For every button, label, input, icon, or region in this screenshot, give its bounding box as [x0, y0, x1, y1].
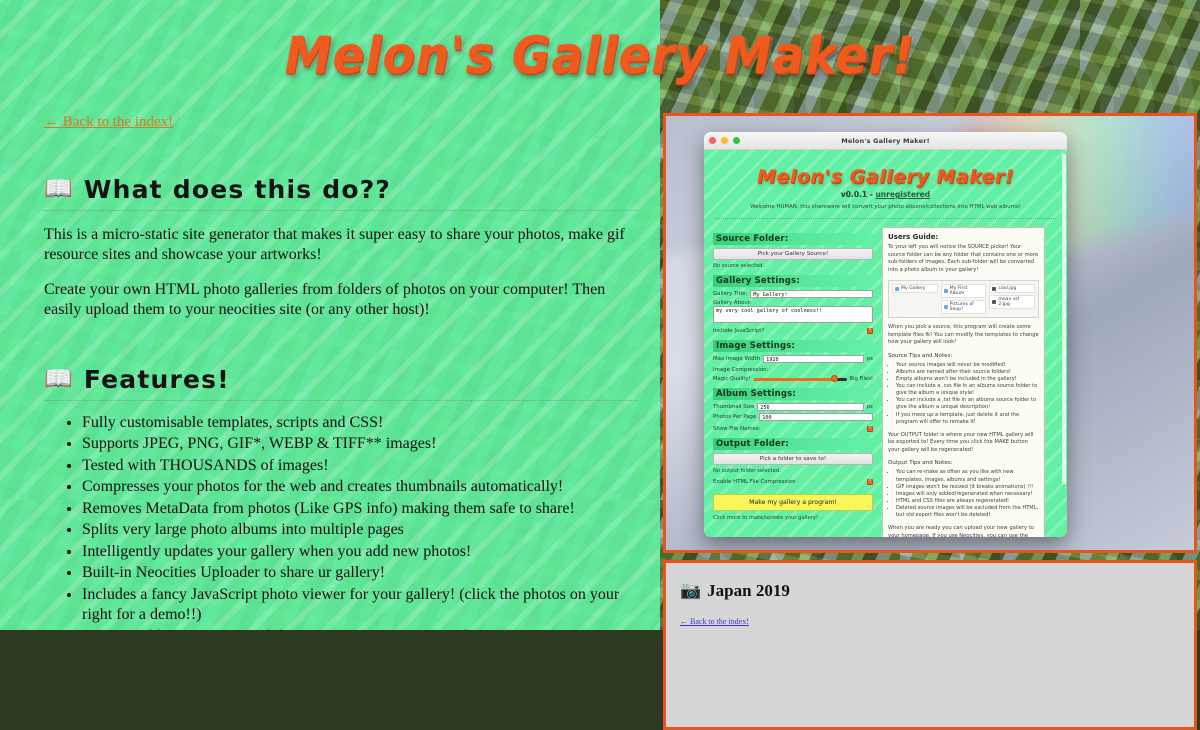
max-image-width-unit: px [867, 356, 873, 362]
back-to-index-link[interactable]: ← Back to the index! [44, 114, 173, 130]
feature-list-item: Removes MetaData from photos (Like GPS i… [82, 499, 638, 519]
thumbnail-size-input[interactable]: 256 [757, 403, 863, 411]
app-version-status[interactable]: unregistered [875, 190, 930, 199]
gallery-title-input[interactable]: My Gallery! [750, 290, 873, 298]
output-folder-heading: Output Folder: [713, 438, 873, 450]
file-mock-item: My Gallery [892, 284, 938, 293]
guide-list-item: You can re-make as often as you like wit… [896, 469, 1039, 483]
html-compression-label: Enable HTML File Compression [713, 479, 796, 485]
output-tips-heading: Output Tips and Notes: [888, 460, 1039, 466]
slider-min-label: Magic Quality! [713, 376, 751, 382]
slider-fill [754, 378, 834, 381]
app-scrollbar[interactable] [1062, 154, 1066, 484]
html-compression-checkbox[interactable] [867, 479, 873, 485]
include-javascript-checkbox[interactable] [867, 328, 873, 334]
camera-icon: 📷 [680, 581, 701, 601]
guide-list-item: Deleted source images will be excluded f… [896, 505, 1039, 519]
feature-list-item: Fully customisable templates, scripts an… [82, 413, 638, 433]
image-file-icon [992, 300, 996, 304]
users-guide-panel: Users Guide: To your left you will notic… [882, 227, 1045, 537]
users-guide-p4: When you are ready you can upload your n… [888, 525, 1039, 537]
album-demo-panel[interactable]: 📷 Japan 2019 ← Back to the index! [663, 560, 1197, 730]
section-heading-label: What does this do?? [84, 175, 391, 204]
slider-handle[interactable] [831, 375, 838, 382]
make-gallery-button[interactable]: Make my gallery a program! [713, 494, 873, 511]
source-status: No source selected. [713, 263, 873, 269]
feature-list-item: Built-in Neocities Uploader to share ur … [82, 563, 638, 583]
guide-list-item: You can include a .txt file in an albums… [896, 397, 1039, 411]
file-browser-mockup: My Gallery My First Album Pictures of So… [888, 280, 1039, 318]
intro-paragraph-2: Create your own HTML photo galleries fro… [44, 280, 638, 321]
guide-list-item: Empty albums won't be included in the ga… [896, 376, 1039, 383]
feature-list-item: Compresses your photos for the web and c… [82, 477, 638, 497]
guide-list-item: Albums are named after their source fold… [896, 369, 1039, 376]
folder-icon [944, 289, 948, 293]
file-mock-label: My First Album [950, 286, 984, 296]
pick-output-button[interactable]: Pick a folder to save to! [713, 453, 873, 465]
file-mock-item: My First Album [941, 284, 987, 298]
guide-list-item: Your source images will never be modifie… [896, 362, 1039, 369]
users-guide-p3: Your OUTPUT folder is where your new HTM… [888, 432, 1039, 455]
photos-per-page-input[interactable]: 100 [759, 413, 873, 421]
feature-list-item: Intelligently updates your gallery when … [82, 542, 638, 562]
section-heading-features: 📖 Features! [44, 365, 638, 401]
settings-column: Source Folder: Pick your Gallery Source!… [713, 227, 873, 537]
intro-paragraph-1: This is a micro-static site generator th… [44, 225, 638, 266]
feature-list-item: Includes a fancy JavaScript photo viewer… [82, 585, 638, 626]
photos-per-page-label: Photos Per Page [713, 414, 756, 420]
album-back-to-index-link[interactable]: ← Back to the index! [680, 617, 749, 626]
album-settings-heading: Album Settings: [713, 388, 873, 400]
thumbnail-size-unit: px [867, 404, 873, 410]
output-status: No output folder selected. [713, 468, 873, 474]
file-mock-label: mean art 2.jpg [998, 297, 1032, 307]
image-settings-heading: Image Settings: [713, 340, 873, 352]
feature-list-item: Tested with THOUSANDS of images! [82, 456, 638, 476]
folder-icon [895, 287, 899, 291]
file-mock-item: Pictures of Soup! [941, 300, 987, 314]
guide-list-item: If you mess up a template, just delete i… [896, 412, 1039, 426]
section-heading-label: Features! [84, 365, 230, 394]
app-welcome-text: Welcome HUMAN, this shareware will conve… [713, 204, 1058, 210]
folder-icon [944, 305, 948, 309]
feature-list-item: Splits very large photo albums into mult… [82, 520, 638, 540]
gallery-title-label: Gallery Title: [713, 291, 747, 297]
open-book-icon: 📖 [44, 178, 74, 201]
open-book-icon: 📖 [44, 368, 74, 391]
slider-max-label: Big Files! [850, 376, 873, 382]
file-mock-label: My Gallery [901, 286, 926, 291]
feature-list-item: You can add custom CSS and descriptions … [82, 627, 638, 630]
output-tips-list: You can re-make as often as you like wit… [888, 469, 1039, 519]
album-title-label: Japan 2019 [707, 581, 790, 601]
guide-list-item: You can include a .css file in an albums… [896, 383, 1039, 397]
users-guide-p1: To your left you will notice the SOURCE … [888, 244, 1039, 274]
file-mock-label: cool.jpg [998, 286, 1016, 291]
app-screenshot-panel[interactable]: Melon's Gallery Maker! Melon's Gallery M… [663, 113, 1197, 553]
file-mock-label: Pictures of Soup! [950, 302, 984, 312]
users-guide-heading: Users Guide: [888, 233, 1039, 241]
source-tips-list: Your source images will never be modifie… [888, 362, 1039, 426]
gallery-settings-heading: Gallery Settings: [713, 275, 873, 287]
users-guide-p2: When you pick a source, this program wil… [888, 324, 1039, 347]
app-logo-title: Melon's Gallery Maker! [713, 166, 1058, 188]
gallery-about-textarea[interactable]: my very cool gallery of coolness!! [713, 306, 873, 323]
show-file-names-label: Show File Names: [713, 426, 761, 432]
guide-list-item: HTML and CSS files are always regenerate… [896, 498, 1039, 505]
source-folder-heading: Source Folder: [713, 233, 873, 245]
source-tips-heading: Source Tips and Notes: [888, 353, 1039, 359]
main-content-pane: ← Back to the index! 📖 What does this do… [0, 0, 660, 630]
image-compression-label: Image Compression: [713, 367, 873, 373]
max-image-width-label: Max Image Width [713, 356, 760, 362]
file-mock-item: cool.jpg [989, 284, 1035, 293]
app-version: v0.0.1 - unregistered [713, 190, 1058, 199]
feature-list-item: Supports JPEG, PNG, GIF*, WEBP & TIFF** … [82, 434, 638, 454]
app-window[interactable]: Melon's Gallery Maker! Melon's Gallery M… [704, 132, 1067, 537]
section-heading-what-does-this-do: 📖 What does this do?? [44, 175, 638, 211]
pick-source-button[interactable]: Pick your Gallery Source! [713, 248, 873, 260]
make-gallery-note: Click more to make/update your gallery! [713, 515, 873, 521]
file-mock-item: mean art 2.jpg [989, 295, 1035, 309]
divider [715, 218, 1056, 219]
guide-list-item: Images will only added/regenerated when … [896, 491, 1039, 498]
album-title: 📷 Japan 2019 [680, 581, 1180, 601]
show-file-names-checkbox[interactable] [867, 426, 873, 432]
window-title: Melon's Gallery Maker! [704, 137, 1067, 145]
guide-list-item: GIF images won't be resized (it breaks a… [896, 484, 1039, 491]
features-list: Fully customisable templates, scripts an… [44, 413, 638, 630]
window-titlebar: Melon's Gallery Maker! [704, 132, 1067, 150]
include-javascript-label: Include JavaScript? [713, 328, 764, 334]
thumbnail-size-label: Thumbnail Size [713, 404, 754, 410]
max-image-width-input[interactable]: 1920 [763, 355, 864, 363]
image-file-icon [992, 287, 996, 291]
app-body: Melon's Gallery Maker! v0.0.1 - unregist… [704, 150, 1067, 537]
compression-slider[interactable] [754, 378, 847, 381]
app-version-prefix: v0.0.1 - [841, 190, 876, 199]
